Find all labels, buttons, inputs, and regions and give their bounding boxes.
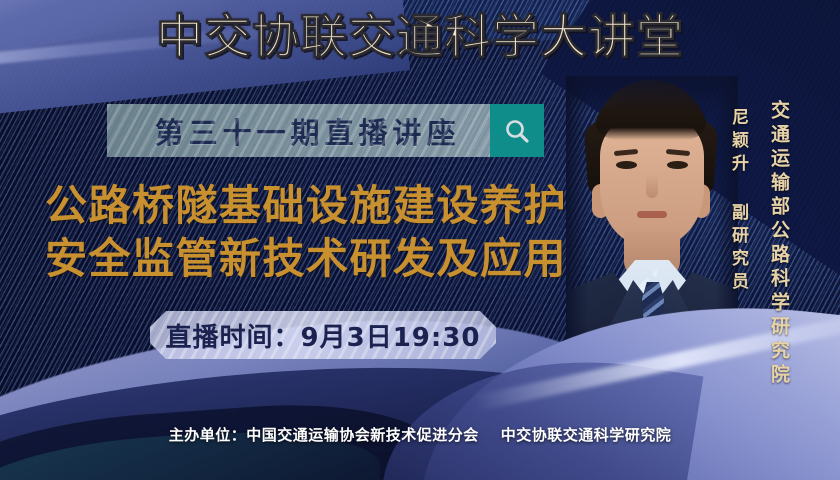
- broadcast-time-label: 直播时间：9月3日19:30: [166, 317, 481, 354]
- page-title: 中交协联交通科学大讲堂: [0, 14, 840, 63]
- episode-bar: 第三十一期直播讲座: [107, 104, 544, 157]
- organizer-footer: 主办单位：中国交通运输协会新技术促进分会中交协联交通科学研究院: [0, 424, 840, 445]
- speaker-organization: 交通运输部公路科学研究院: [766, 100, 793, 388]
- organizer-primary: 主办单位：中国交通运输协会新技术促进分会: [169, 426, 479, 444]
- livestream-poster: 中交协联交通科学大讲堂 第三十一期直播讲座 公路桥隧基础设施建设养护 安全监管新…: [0, 0, 840, 480]
- search-icon[interactable]: [490, 104, 544, 157]
- episode-label: 第三十一期直播讲座: [107, 104, 490, 157]
- broadcast-time-badge: 直播时间：9月3日19:30: [150, 311, 496, 359]
- headline-line-2: 安全监管新技术研发及应用: [26, 233, 586, 286]
- organizer-secondary: 中交协联交通科学研究院: [501, 426, 672, 444]
- headline-line-1: 公路桥隧基础设施建设养护: [26, 180, 586, 233]
- lecture-headline: 公路桥隧基础设施建设养护 安全监管新技术研发及应用: [26, 180, 586, 286]
- speaker-name-title: 尼颖升 副研究员: [726, 108, 751, 295]
